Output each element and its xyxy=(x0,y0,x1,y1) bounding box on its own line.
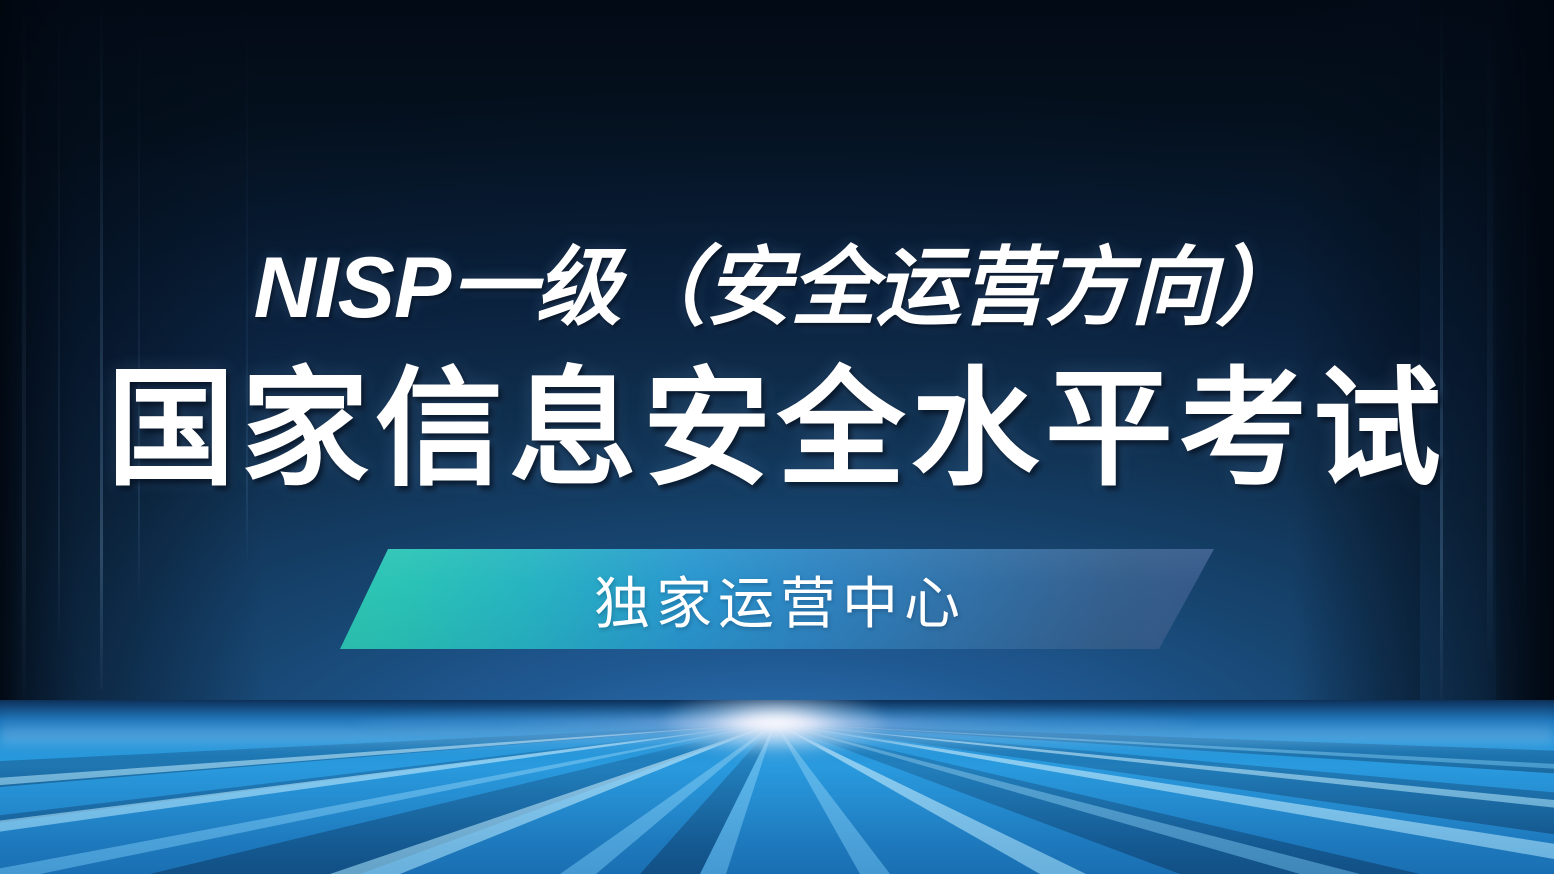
promo-banner: NISP一级（安全运营方向） 国家信息安全水平考试 独家运营中心 xyxy=(0,0,1554,874)
subtitle-line: NISP一级（安全运营方向） xyxy=(0,236,1554,340)
poster-content: NISP一级（安全运营方向） 国家信息安全水平考试 独家运营中心 xyxy=(0,0,1554,874)
ribbon-label: 独家运营中心 xyxy=(340,549,1214,649)
ribbon-banner: 独家运营中心 xyxy=(340,549,1214,649)
page-title: 国家信息安全水平考试 xyxy=(0,360,1554,500)
